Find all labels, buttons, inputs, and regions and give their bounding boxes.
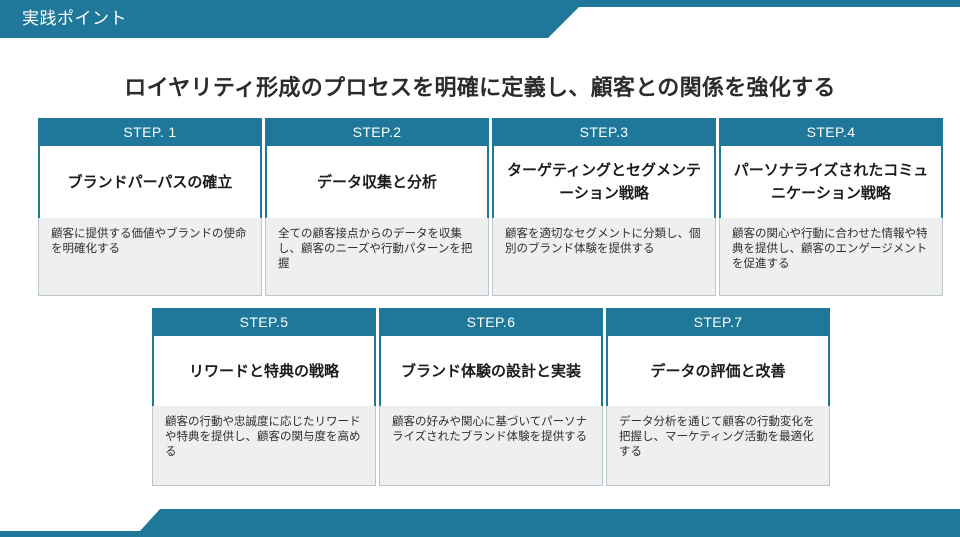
step-card-2-title: データ収集と分析	[265, 146, 489, 218]
step-card-1-label: STEP. 1	[38, 118, 262, 146]
step-card-6-body: 顧客の好みや関心に基づいてパーソナライズされたブランド体験を提供する	[379, 406, 603, 486]
slide-root: 実践ポイント ロイヤリティ形成のプロセスを明確に定義し、顧客との関係を強化する …	[0, 0, 960, 537]
step-card-7-label: STEP.7	[606, 308, 830, 336]
step-card-7-title: データの評価と改善	[606, 336, 830, 406]
main-heading: ロイヤリティ形成のプロセスを明確に定義し、顧客との関係を強化する	[0, 70, 960, 102]
step-card-5-label: STEP.5	[152, 308, 376, 336]
step-card-3-label: STEP.3	[492, 118, 716, 146]
step-card-7-body: データ分析を通じて顧客の行動変化を把握し、マーケティング活動を最適化する	[606, 406, 830, 486]
step-card-4[interactable]: STEP.4 パーソナライズされたコミュニケーション戦略 顧客の関心や行動に合わ…	[719, 118, 943, 296]
step-card-5[interactable]: STEP.5 リワードと特典の戦略 顧客の行動や忠誠度に応じたリワードや特典を提…	[152, 308, 376, 486]
step-card-6-title: ブランド体験の設計と実装	[379, 336, 603, 406]
step-card-3[interactable]: STEP.3 ターゲティングとセグメンテーション戦略 顧客を適切なセグメントに分…	[492, 118, 716, 296]
step-card-4-body: 顧客の関心や行動に合わせた情報や特典を提供し、顧客のエンゲージメントを促進する	[719, 218, 943, 296]
step-card-3-title: ターゲティングとセグメンテーション戦略	[492, 146, 716, 218]
step-card-3-body: 顧客を適切なセグメントに分類し、個別のブランド体験を提供する	[492, 218, 716, 296]
step-card-2-body: 全ての顧客接点からのデータを収集し、顧客のニーズや行動パターンを把握	[265, 218, 489, 296]
step-card-2[interactable]: STEP.2 データ収集と分析 全ての顧客接点からのデータを収集し、顧客のニーズ…	[265, 118, 489, 296]
footer-band	[0, 509, 960, 537]
step-card-4-title: パーソナライズされたコミュニケーション戦略	[719, 146, 943, 218]
step-card-5-title: リワードと特典の戦略	[152, 336, 376, 406]
step-card-6-label: STEP.6	[379, 308, 603, 336]
step-card-6[interactable]: STEP.6 ブランド体験の設計と実装 顧客の好みや関心に基づいてパーソナライズ…	[379, 308, 603, 486]
step-card-2-label: STEP.2	[265, 118, 489, 146]
step-card-1-body: 顧客に提供する価値やブランドの使命を明確化する	[38, 218, 262, 296]
step-card-7[interactable]: STEP.7 データの評価と改善 データ分析を通じて顧客の行動変化を把握し、マー…	[606, 308, 830, 486]
step-card-4-label: STEP.4	[719, 118, 943, 146]
step-card-1[interactable]: STEP. 1 ブランドパーパスの確立 顧客に提供する価値やブランドの使命を明確…	[38, 118, 262, 296]
step-card-5-body: 顧客の行動や忠誠度に応じたリワードや特典を提供し、顧客の関与度を高める	[152, 406, 376, 486]
page-title: 実践ポイント	[22, 7, 127, 31]
step-card-1-title: ブランドパーパスの確立	[38, 146, 262, 218]
